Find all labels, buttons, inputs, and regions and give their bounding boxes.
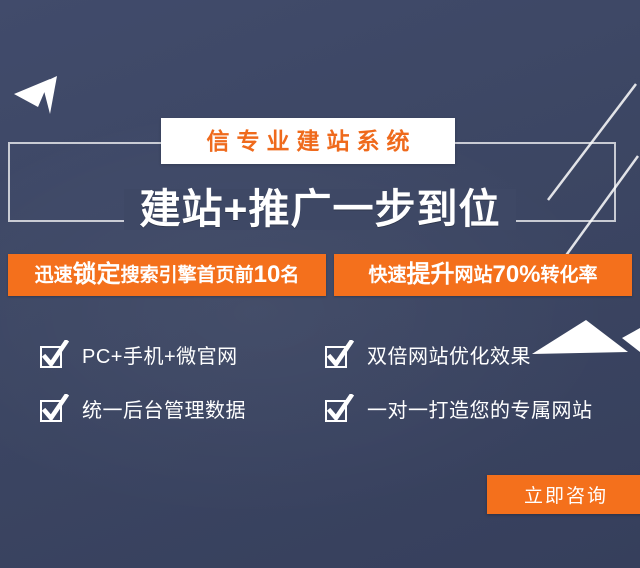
checkbox-checked-icon — [40, 346, 62, 368]
feature-list: PC+手机+微官网 双倍网站优化效果 统一后台管理数据 — [40, 330, 620, 438]
bar-segment: 迅速 — [35, 266, 73, 285]
bar-segment: 网站 — [454, 266, 492, 285]
bar-segment: 搜索引擎首页前 — [121, 266, 254, 285]
bar-segment: 70% — [492, 263, 540, 287]
highlight-bar-conversion: 快速提升网站70%转化率 — [334, 254, 632, 296]
checkbox-checked-icon — [325, 400, 347, 422]
feature-item: PC+手机+微官网 — [40, 330, 325, 384]
highlight-bar-ranking: 迅速锁定搜索引擎首页前10名 — [8, 254, 326, 296]
checkbox-checked-icon — [325, 346, 347, 368]
badge-text: 信专业建站系统 — [200, 130, 417, 153]
feature-item: 一对一打造您的专属网站 — [325, 384, 620, 438]
feature-label: 一对一打造您的专属网站 — [367, 401, 593, 421]
feature-label: 双倍网站优化效果 — [367, 347, 531, 367]
bar-segment: 快速 — [368, 266, 406, 285]
bar-segment: 转化率 — [541, 266, 598, 285]
page-title: 建站+推广一步到位 — [124, 189, 517, 230]
paper-plane-icon — [10, 62, 76, 126]
bar-segment: 锁定 — [73, 263, 121, 287]
headline-container: 建站+推广一步到位 — [0, 181, 640, 237]
feature-label: PC+手机+微官网 — [82, 347, 238, 367]
highlight-bars: 迅速锁定搜索引擎首页前10名 快速提升网站70%转化率 — [8, 254, 632, 296]
bar-segment: 名 — [280, 266, 299, 285]
bar-segment: 10 — [254, 263, 281, 287]
checkbox-checked-icon — [40, 400, 62, 422]
feature-item: 双倍网站优化效果 — [325, 330, 620, 384]
feature-item: 统一后台管理数据 — [40, 384, 325, 438]
bar-segment: 提升 — [406, 263, 454, 287]
badge: 信专业建站系统 — [161, 118, 455, 164]
consult-now-button[interactable]: 立即咨询 — [487, 475, 640, 514]
feature-label: 统一后台管理数据 — [82, 401, 246, 421]
promo-banner: 信专业建站系统 建站+推广一步到位 迅速锁定搜索引擎首页前10名 快速提升网站7… — [0, 0, 640, 568]
